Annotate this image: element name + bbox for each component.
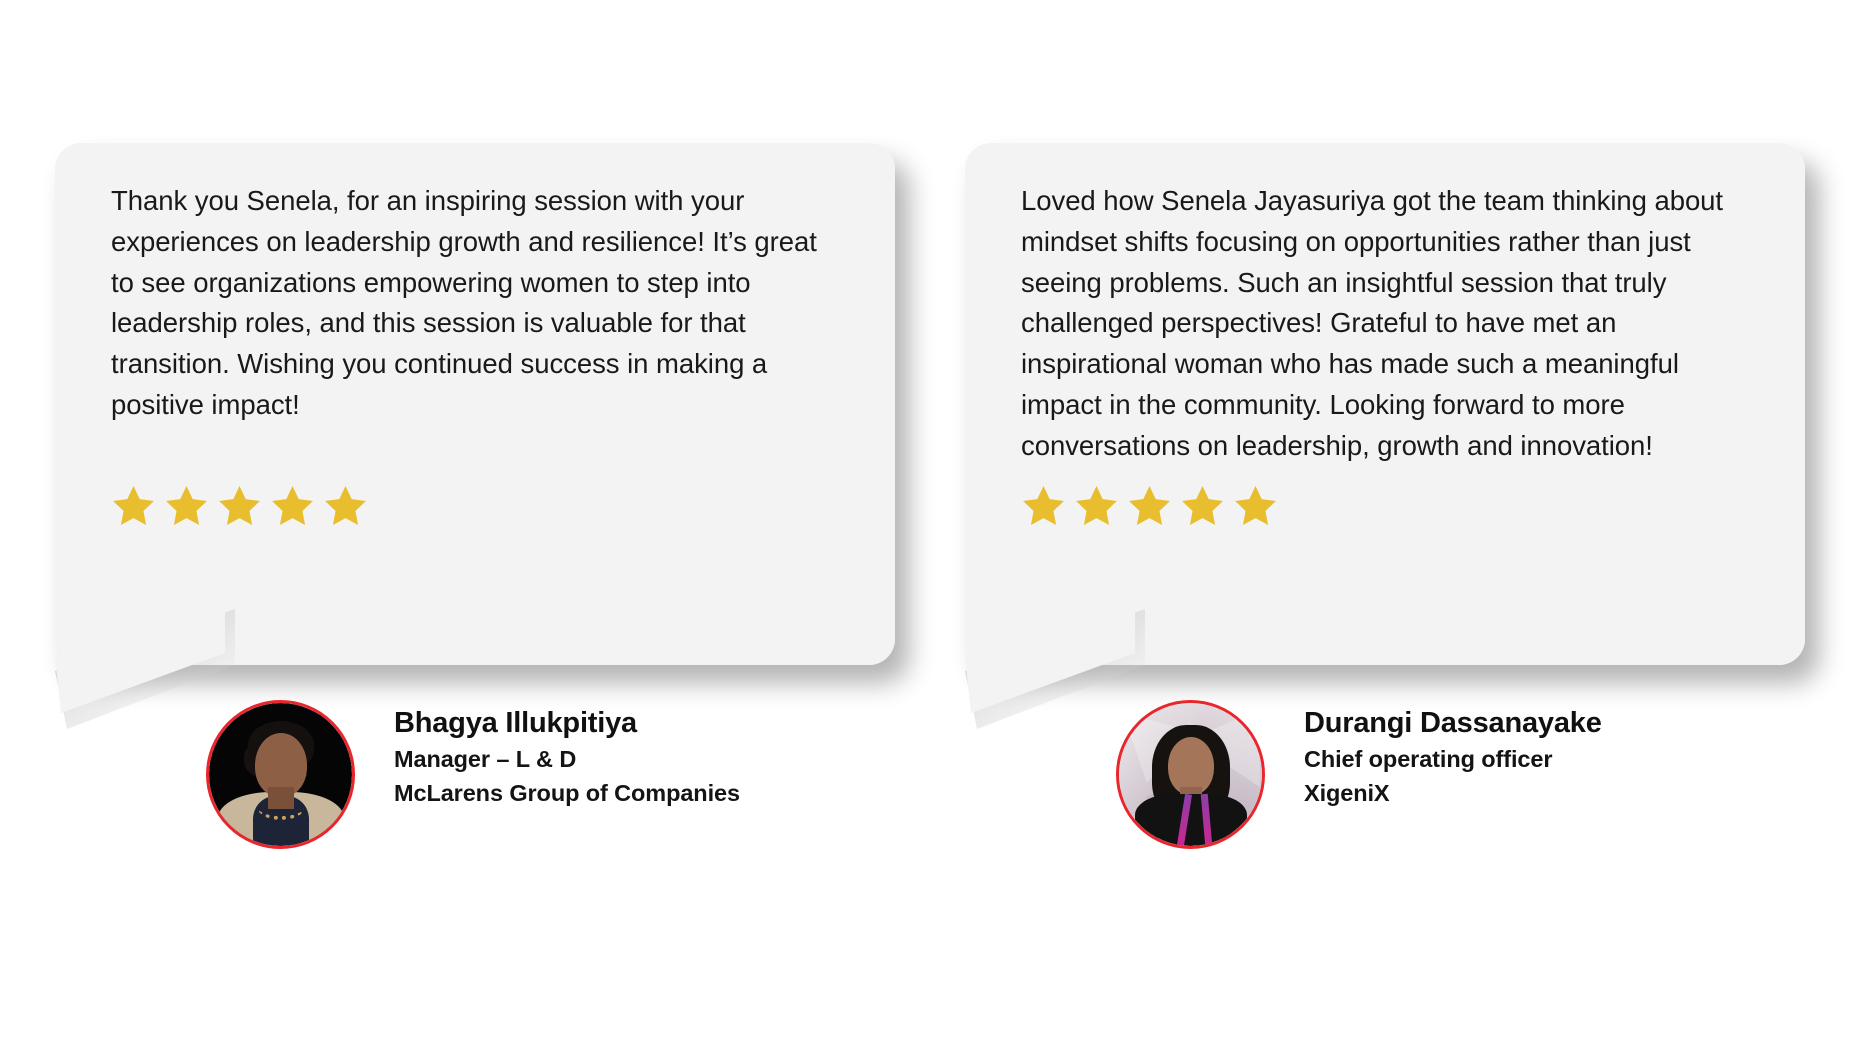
- author-name: Bhagya Illukpitiya: [394, 705, 740, 742]
- speech-bubble: Loved how Senela Jayasuriya got the team…: [965, 143, 1805, 665]
- star-icon: [1180, 483, 1225, 528]
- author-name: Durangi Dassanayake: [1304, 705, 1602, 742]
- testimonial-card: Thank you Senela, for an inspiring sessi…: [55, 143, 895, 665]
- star-icon: [1233, 483, 1278, 528]
- avatar: [206, 700, 355, 849]
- author-details: Bhagya Illukpitiya Manager – L & D McLar…: [394, 700, 740, 810]
- author-role: Manager – L & D: [394, 742, 740, 776]
- star-icon: [217, 483, 262, 528]
- bubble-content: Thank you Senela, for an inspiring sessi…: [55, 143, 895, 665]
- star-icon: [1127, 483, 1172, 528]
- avatar: [1116, 700, 1265, 849]
- author-details: Durangi Dassanayake Chief operating offi…: [1304, 700, 1602, 810]
- author-organization: McLarens Group of Companies: [394, 776, 740, 810]
- testimonial-author: Bhagya Illukpitiya Manager – L & D McLar…: [206, 700, 740, 849]
- avatar-image: [209, 703, 352, 846]
- star-icon: [1021, 483, 1066, 528]
- author-organization: XigeniX: [1304, 776, 1602, 810]
- star-icon: [270, 483, 315, 528]
- speech-bubble: Thank you Senela, for an inspiring sessi…: [55, 143, 895, 665]
- star-icon: [1074, 483, 1119, 528]
- star-rating: [111, 483, 368, 528]
- testimonial-card: Loved how Senela Jayasuriya got the team…: [965, 143, 1805, 665]
- star-icon: [323, 483, 368, 528]
- star-icon: [111, 483, 156, 528]
- author-role: Chief operating officer: [1304, 742, 1602, 776]
- testimonials-section: Thank you Senela, for an inspiring sessi…: [0, 0, 1856, 1044]
- testimonial-quote: Thank you Senela, for an inspiring sessi…: [111, 181, 837, 426]
- star-icon: [164, 483, 209, 528]
- testimonial-author: Durangi Dassanayake Chief operating offi…: [1116, 700, 1602, 849]
- testimonial-quote: Loved how Senela Jayasuriya got the team…: [1021, 181, 1747, 467]
- avatar-image: [1119, 703, 1262, 846]
- bubble-content: Loved how Senela Jayasuriya got the team…: [965, 143, 1805, 665]
- star-rating: [1021, 483, 1278, 528]
